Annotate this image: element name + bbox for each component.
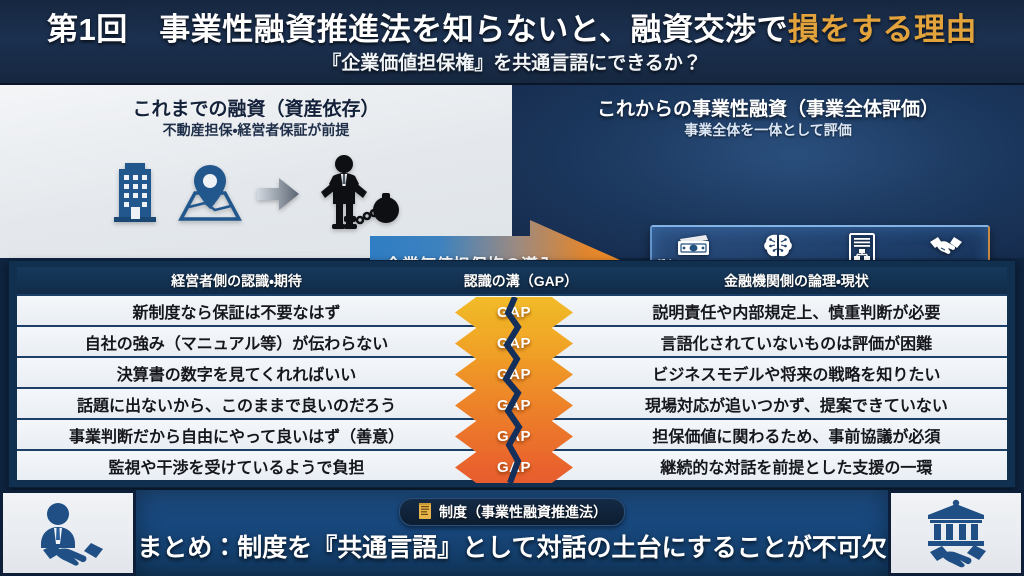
footer-left-icon-panel — [3, 493, 133, 573]
legacy-heading: これまでの融資（資産依存） — [0, 94, 512, 121]
scroll-document-icon — [417, 502, 433, 523]
page-title-highlight: 損をする理由 — [788, 12, 977, 47]
arrow-right-icon — [255, 174, 301, 214]
cash-icon — [653, 233, 735, 257]
page-subtitle: 『企業価値担保権』を共通言語にできるか？ — [0, 48, 1024, 75]
page-title-prefix: 第1回 事業性融資推進法を知らないと、融資交渉で — [47, 12, 788, 47]
gap-comparison-table: 経営者側の認識・期待 認識の溝（GAP） 金融機関側の論理・現状 新制度なら保証… — [8, 260, 1016, 488]
owner-cell: 監視や干渉を受けているようで負担 — [17, 454, 456, 478]
owner-cell: 話題に出ないから、このままで良いのだろう — [17, 392, 456, 416]
future-heading: これからの事業性融資（事業全体評価） — [512, 94, 1024, 121]
table-header-gap: 認識の溝（GAP） — [456, 271, 586, 291]
table-row: 話題に出ないから、このままで良いのだろう 現場対応が追いつかず、提案できていない — [17, 387, 1007, 418]
businessman-ball-and-chain-icon — [311, 154, 403, 234]
bank-cell: 言語化されていないものは評価が困難 — [586, 330, 1007, 354]
owner-cell: 事業判断だから自由にやって良いはず（善意） — [17, 423, 456, 447]
bank-cell: 説明責任や内部規定上、慎重判断が必要 — [586, 299, 1007, 323]
future-subheading: 事業全体を一体として評価 — [512, 120, 1024, 140]
comparison-band: これまでの融資（資産依存） 不動産担保・経営者保証が前提 — [0, 85, 1024, 258]
table-row: 事業判断だから自由にやって良いはず（善意） 担保価値に関わるため、事前協議が必須 — [17, 418, 1007, 449]
bank-handshake-icon — [916, 498, 996, 568]
slide-root: 第1回 事業性融資推進法を知らないと、融資交渉で損をする理由 『企業価値担保権』… — [0, 0, 1024, 576]
footer-message: まとめ：制度を『共通言語』として対話の土台にすることが不可欠 — [136, 528, 888, 564]
page-title: 第1回 事業性融資推進法を知らないと、融資交渉で損をする理由 — [0, 4, 1024, 49]
bank-cell: 現場対応が追いつかず、提案できていない — [586, 392, 1007, 416]
table-row: 監視や干渉を受けているようで負担 継続的な対話を前提とした支援の一環 — [17, 449, 1007, 480]
table-row: 新制度なら保証は不要なはず 説明責任や内部規定上、慎重判断が必要 — [17, 294, 1007, 325]
map-pin-icon — [175, 163, 245, 225]
legacy-icon-row — [0, 141, 512, 246]
owner-cell: 新制度なら保証は不要なはず — [17, 299, 456, 323]
legacy-subheading: 不動産担保・経営者保証が前提 — [0, 120, 512, 140]
table-row: 自社の強み（マニュアル等）が伝わらない 言語化されていないものは評価が困難 — [17, 325, 1007, 356]
owner-cell: 決算書の数字を見てくれればいい — [17, 361, 456, 385]
document-flowchart-icon — [821, 233, 903, 263]
businessman-handshake-icon — [25, 500, 111, 566]
footer-bar: 制度（事業性融資推進法） まとめ：制度を『共通言語』として対話の土台にすることが… — [0, 490, 1024, 576]
bank-cell: 担保価値に関わるため、事前協議が必須 — [586, 423, 1007, 447]
owner-cell: 自社の強み（マニュアル等）が伝わらない — [17, 330, 456, 354]
footer-right-icon-panel — [891, 493, 1021, 573]
table-header-row: 経営者側の認識・期待 認識の溝（GAP） 金融機関側の論理・現状 — [17, 267, 1007, 294]
bank-cell: 継続的な対話を前提とした支援の一環 — [586, 454, 1007, 478]
system-badge: 制度（事業性融資推進法） — [399, 498, 625, 526]
system-badge-label: 制度（事業性融資推進法） — [439, 502, 607, 522]
bank-cell: ビジネスモデルや将来の戦略を知りたい — [586, 361, 1007, 385]
handshake-icon — [905, 233, 987, 259]
title-bar: 第1回 事業性融資推進法を知らないと、融資交渉で損をする理由 『企業価値担保権』… — [0, 0, 1024, 85]
table-header-bank: 金融機関側の論理・現状 — [586, 271, 1007, 291]
table-header-owner: 経営者側の認識・期待 — [17, 271, 456, 291]
table-row: 決算書の数字を見てくれればいい ビジネスモデルや将来の戦略を知りたい — [17, 356, 1007, 387]
brain-icon — [737, 233, 819, 259]
office-building-icon — [109, 163, 165, 225]
